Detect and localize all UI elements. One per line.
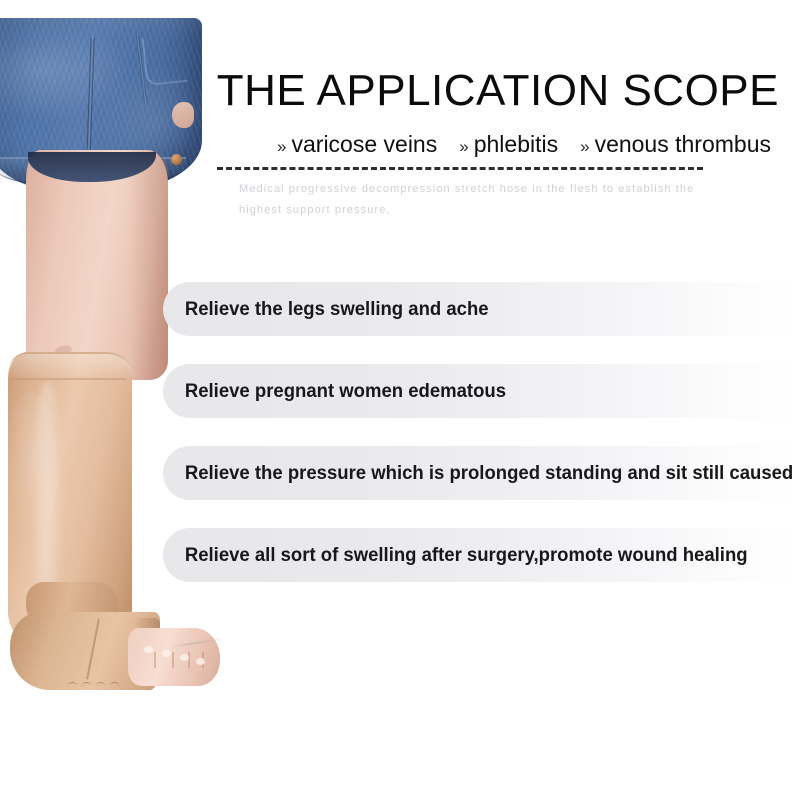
stocking-band-seam (10, 378, 126, 380)
denim-side-gap (172, 102, 194, 128)
scope-item-label: venous thrombus (595, 130, 771, 158)
product-infographic: THE APPLICATION SCOPE » varicose veins »… (0, 0, 800, 800)
feature-row: Relieve all sort of swelling after surge… (163, 528, 800, 582)
feature-label: Relieve pregnant women edematous (163, 379, 506, 403)
bare-toes (128, 628, 220, 686)
scope-item-venous-thrombus: » venous thrombus (580, 130, 771, 161)
feature-row: Relieve the legs swelling and ache (163, 282, 800, 336)
subtitle-text: Medical progressive decompression stretc… (239, 179, 709, 221)
denim-rivet-icon (171, 154, 182, 165)
toenail (162, 650, 171, 657)
feature-row: Relieve pregnant women edematous (163, 364, 800, 418)
feature-label: Relieve the pressure which is prolonged … (163, 461, 793, 485)
toenail (180, 654, 189, 661)
scope-item-label: phlebitis (474, 130, 558, 158)
header-block: THE APPLICATION SCOPE » varicose veins »… (215, 66, 785, 221)
scope-item-phlebitis: » phlebitis (459, 130, 558, 161)
chevron-right-icon: » (277, 133, 286, 161)
stocking-top-band (8, 352, 132, 380)
page-title: THE APPLICATION SCOPE (215, 66, 785, 116)
bare-thigh (26, 150, 168, 380)
toe-separation (154, 652, 156, 668)
dashed-divider (217, 167, 703, 170)
scope-list: » varicose veins » phlebitis » venous th… (215, 130, 785, 161)
toe-separation (172, 652, 174, 668)
scope-item-varicose-veins: » varicose veins (277, 130, 437, 161)
toenail (144, 646, 153, 653)
toe-stitch (110, 682, 119, 690)
thigh-shading (128, 150, 168, 380)
toe-stitch (82, 682, 91, 690)
chevron-right-icon: » (580, 133, 589, 161)
toenail (196, 658, 205, 665)
stocking-sheen (30, 382, 64, 602)
denim-pocket (142, 34, 189, 86)
toe-stitch (96, 682, 105, 690)
scope-item-label: varicose veins (292, 130, 438, 158)
feature-label: Relieve all sort of swelling after surge… (163, 543, 748, 567)
feature-list: Relieve the legs swelling and ache Relie… (163, 282, 800, 582)
toe-stitch (68, 682, 77, 690)
toe-separation (188, 652, 190, 668)
chevron-right-icon: » (459, 133, 468, 161)
feature-label: Relieve the legs swelling and ache (163, 297, 489, 321)
compression-stocking-calf (8, 352, 132, 652)
feature-row: Relieve the pressure which is prolonged … (163, 446, 800, 500)
